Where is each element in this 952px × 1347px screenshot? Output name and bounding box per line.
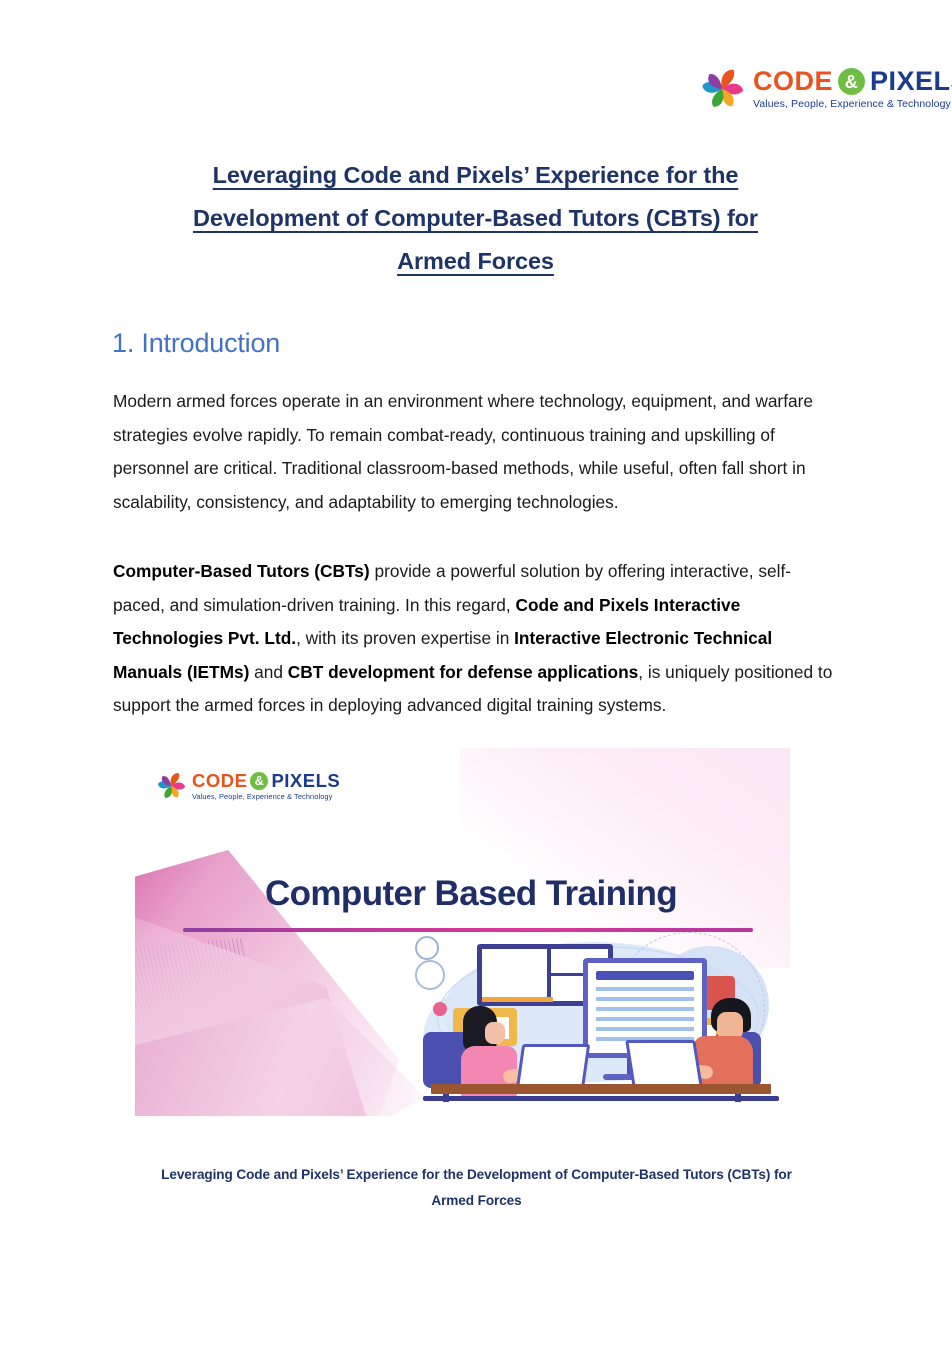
paragraph-intro-2: Computer-Based Tutors (CBTs) provide a p… xyxy=(113,555,840,723)
figure-logo-text: CODE & PIXELS Values, People, Experience… xyxy=(192,772,340,800)
figure-headline: Computer Based Training xyxy=(181,874,761,914)
document-title: Leveraging Code and Pixels’ Experience f… xyxy=(113,154,838,283)
figure-caption-line-2: Armed Forces xyxy=(431,1193,521,1208)
person-face xyxy=(485,1022,505,1044)
section-heading-introduction: 1. Introduction xyxy=(112,328,280,359)
pinwheel-icon xyxy=(155,770,187,802)
laptop-screen xyxy=(625,1040,703,1088)
figure-ribbon-mesh xyxy=(135,938,265,1116)
logo-ampersand-badge: & xyxy=(838,68,865,95)
document-title-line-2: Development of Computer-Based Tutors (CB… xyxy=(193,205,758,231)
logo-word-code: CODE xyxy=(753,68,833,95)
decorative-ring-icon xyxy=(415,936,439,960)
paragraph-bold-cbts: Computer-Based Tutors (CBTs) xyxy=(113,561,370,581)
logo-word-code: CODE xyxy=(192,772,247,791)
desk-floor-line xyxy=(423,1096,779,1101)
figure-pink-wash xyxy=(460,748,790,968)
decorative-ring-icon xyxy=(415,960,445,990)
logo-text: CODE & PIXELS Values, People, Experience… xyxy=(753,68,952,110)
figure-ribbon-1 xyxy=(135,806,412,1116)
header-logo: CODE & PIXELS Values, People, Experience… xyxy=(698,58,930,120)
document-title-line-1: Leveraging Code and Pixels’ Experience f… xyxy=(213,162,739,188)
monitor-topbar xyxy=(596,971,694,980)
figure-ribbon-3 xyxy=(135,998,425,1116)
document-page: CODE & PIXELS Values, People, Experience… xyxy=(0,0,952,1347)
window-pane-left xyxy=(482,949,551,1001)
figure-logo: CODE & PIXELS Values, People, Experience… xyxy=(155,770,340,802)
document-title-line-3: Armed Forces xyxy=(397,248,554,274)
figure-illustration xyxy=(415,936,787,1112)
desk-surface xyxy=(431,1084,771,1094)
pinwheel-icon xyxy=(698,65,746,113)
figure-caption-line-1: Leveraging Code and Pixels’ Experience f… xyxy=(161,1167,792,1182)
paragraph-text-2: , with its proven expertise in xyxy=(296,628,514,648)
logo-word-pixels: PIXELS xyxy=(271,772,340,791)
logo-tagline: Values, People, Experience & Technology xyxy=(753,99,952,110)
paragraph-text-3: and xyxy=(249,662,287,682)
figure-caption: Leveraging Code and Pixels’ Experience f… xyxy=(113,1162,840,1214)
figure-headline-underline xyxy=(183,928,753,932)
logo-word-pixels: PIXELS xyxy=(870,68,952,95)
logo-ampersand-badge: & xyxy=(250,772,268,790)
paragraph-bold-cbt-defense: CBT development for defense applications xyxy=(288,662,639,682)
paragraph-intro-1: Modern armed forces operate in an enviro… xyxy=(113,385,840,519)
logo-tagline: Values, People, Experience & Technology xyxy=(192,793,340,800)
decorative-dot-icon xyxy=(433,1002,447,1016)
figure-computer-based-training: CODE & PIXELS Values, People, Experience… xyxy=(135,748,790,1116)
